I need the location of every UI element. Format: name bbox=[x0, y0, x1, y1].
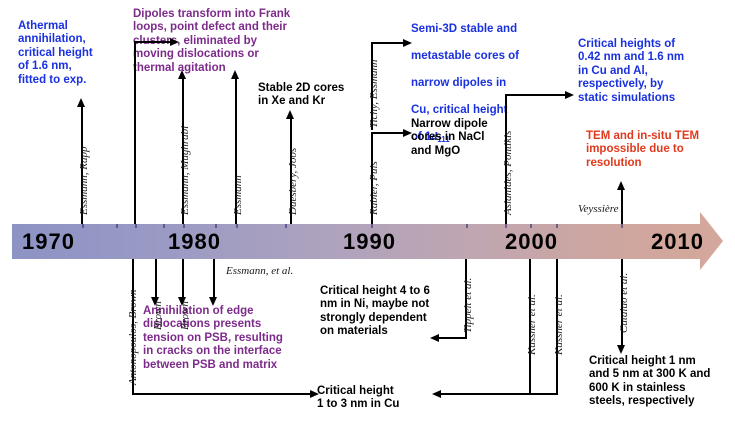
arrowhead-rabier-puls bbox=[403, 129, 412, 137]
semi-3d-line-4: Cu, critical height bbox=[411, 104, 508, 116]
year-label-1990: 1990 bbox=[343, 229, 396, 255]
timeline-tick bbox=[116, 224, 118, 228]
author-essmann: Essmann bbox=[232, 175, 244, 215]
connector-tippelt-h bbox=[438, 337, 467, 339]
author-antonopoulos-brown: Antonopoulos, Brown bbox=[127, 289, 139, 385]
note-annihilation-edge-dislocations: Annihilation of edge dislocations presen… bbox=[143, 305, 315, 372]
arrowhead-essmann-mughrabi-2 bbox=[178, 70, 186, 79]
note-athermal-annihilation: Athermal annihilation, critical height o… bbox=[18, 20, 128, 87]
timeline-tick bbox=[183, 224, 185, 228]
timeline-tick bbox=[236, 224, 238, 228]
timeline-tick bbox=[621, 224, 623, 228]
author-essmann-mughrabi: Essmann, Mughrabi bbox=[179, 126, 191, 215]
connector-essmann-mughrabi-elbow-v bbox=[134, 41, 136, 224]
year-label-1970: 1970 bbox=[22, 229, 75, 255]
semi-3d-line-1: Semi-3D stable and bbox=[411, 23, 517, 35]
connector-brown-1 bbox=[155, 259, 157, 299]
author-rabier-puls: Rabier, Puls bbox=[368, 161, 380, 215]
timeline-tick bbox=[215, 224, 217, 228]
year-label-2000: 2000 bbox=[505, 229, 558, 255]
author-brown-2: Brown bbox=[179, 301, 191, 330]
arrowhead-antonopoulos-brown bbox=[310, 390, 319, 398]
semi-3d-line-2: metastable cores of bbox=[411, 50, 519, 62]
arrowhead-tippelt bbox=[430, 334, 439, 342]
connector-rabier-puls-h bbox=[371, 132, 405, 134]
author-veyssiere: Veyssière bbox=[578, 203, 619, 215]
connector-aslanides-pontikis-h bbox=[505, 94, 567, 96]
author-brown-1: Brown bbox=[152, 301, 164, 330]
author-tichy-essmann: Tichy, Essmann bbox=[368, 60, 380, 128]
arrowhead-essmann-et-al bbox=[209, 297, 217, 306]
arrowhead-essmann-mughrabi bbox=[170, 38, 179, 46]
timeline-tick bbox=[371, 224, 373, 228]
timeline-tick bbox=[466, 224, 468, 228]
note-stable-2d-cores: Stable 2D cores in Xe and Kr bbox=[258, 82, 368, 109]
timeline-tick bbox=[285, 224, 287, 228]
timeline-tick bbox=[163, 224, 165, 228]
connector-kassner-2-h bbox=[529, 393, 558, 395]
note-stainless-steels: Critical height 1 nm and 5 nm at 300 K a… bbox=[589, 355, 735, 409]
note-critical-height-1to3: Critical height 1 to 3 nm in Cu bbox=[317, 385, 437, 412]
author-kassner-1: Kassner et al. bbox=[526, 294, 538, 355]
note-tem-resolution: TEM and in-situ TEM impossible due to re… bbox=[586, 130, 731, 170]
author-essmann-rapp: Essmann, Rapp bbox=[78, 147, 90, 215]
timeline-tick bbox=[530, 224, 532, 228]
author-essmann-et-al: Essmann, et al. bbox=[226, 265, 293, 277]
author-kassner-2: Kassner et al. bbox=[553, 294, 565, 355]
year-label-2010: 2010 bbox=[651, 229, 704, 255]
author-duesbery-joos: Duesbery, Joos bbox=[287, 148, 299, 215]
year-label-1980: 1980 bbox=[168, 229, 221, 255]
connector-brown-2 bbox=[182, 259, 184, 299]
note-critical-heights-static: Critical heights of 0.42 nm and 1.6 nm i… bbox=[578, 38, 723, 105]
arrowhead-catalao bbox=[617, 345, 625, 354]
connector-antonopoulos-brown-h bbox=[132, 393, 312, 395]
semi-3d-line-3: narrow dipoles in bbox=[411, 77, 506, 89]
arrowhead-duesbery-joos bbox=[286, 110, 294, 119]
timeline-tick bbox=[556, 224, 558, 228]
author-aslanides-pontikis: Aslanides, Pontikis bbox=[502, 131, 514, 215]
timeline-diagram: 1970 1980 1990 2000 2010 Athermal annihi… bbox=[0, 0, 735, 421]
arrowhead-essmann-rapp bbox=[77, 98, 85, 107]
arrowhead-veyssiere bbox=[617, 181, 625, 190]
connector-essmann-et-al bbox=[213, 259, 215, 299]
timeline-tick bbox=[505, 224, 507, 228]
author-catalao: Catalao et al. bbox=[618, 273, 630, 333]
connector-veyssiere bbox=[621, 189, 623, 224]
arrowhead-tichy-essmann bbox=[403, 39, 412, 47]
connector-tichy-essmann-h bbox=[371, 42, 405, 44]
connector-essmann-mughrabi-elbow-h bbox=[134, 41, 172, 43]
arrowhead-kassner-1 bbox=[432, 390, 441, 398]
timeline-tick bbox=[82, 224, 84, 228]
connector-kassner-1-h bbox=[440, 393, 531, 395]
arrowhead-essmann bbox=[231, 70, 239, 79]
timeline-tick bbox=[135, 224, 137, 228]
author-tippelt: Tippelt et al. bbox=[462, 278, 474, 333]
note-critical-height-4to6: Critical height 4 to 6 nm in Ni, maybe n… bbox=[320, 285, 470, 339]
arrowhead-aslanides-pontikis bbox=[565, 91, 574, 99]
